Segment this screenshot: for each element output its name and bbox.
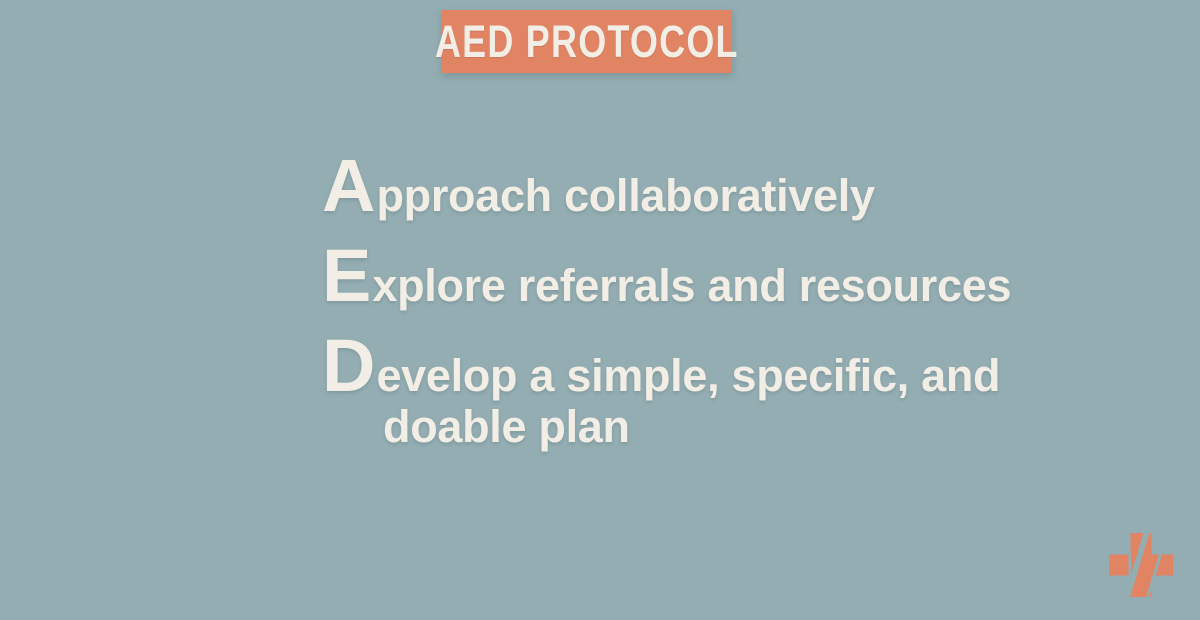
page-title: AED PROTOCOL [435, 19, 739, 64]
medical-cross-icon [1106, 531, 1176, 601]
protocol-initial-a: A [322, 144, 376, 227]
slide-canvas: AED PROTOCOL Approach collaboratively Ex… [0, 0, 1200, 620]
protocol-list: Approach collaboratively Explore referra… [322, 152, 1082, 449]
protocol-text-d: evelop a simple, specific, and [376, 350, 1000, 401]
protocol-line: Approach collaboratively [322, 152, 1082, 220]
protocol-text-d-wrap: doable plan [383, 404, 1082, 449]
medical-cross-logo [1106, 531, 1176, 601]
protocol-initial-d: D [322, 324, 376, 407]
protocol-item-explore: Explore referrals and resources [322, 242, 1082, 310]
protocol-initial-e: E [322, 234, 372, 317]
protocol-item-approach: Approach collaboratively [322, 152, 1082, 220]
title-banner: AED PROTOCOL [442, 10, 732, 73]
protocol-line: Develop a simple, specific, and [322, 332, 1082, 400]
protocol-text-e: xplore referrals and resources [372, 260, 1011, 311]
protocol-item-develop: Develop a simple, specific, and doable p… [322, 332, 1082, 449]
protocol-text-a: pproach collaboratively [376, 170, 874, 221]
protocol-line: Explore referrals and resources [322, 242, 1082, 310]
